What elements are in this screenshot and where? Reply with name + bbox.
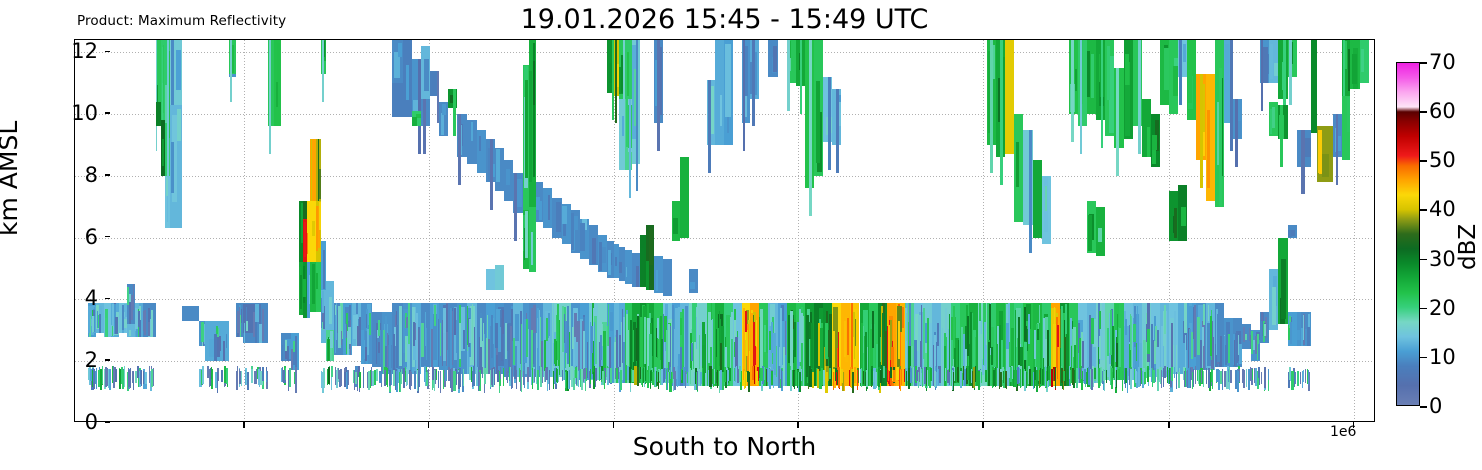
reflectivity-cell [1005, 40, 1014, 154]
reflectivity-cell [1100, 368, 1102, 386]
reflectivity-cell [1000, 372, 1002, 388]
reflectivity-cell [145, 372, 147, 384]
reflectivity-cell [285, 368, 286, 380]
reflectivity-cell [1361, 49, 1364, 72]
reflectivity-cell [972, 313, 973, 359]
reflectivity-cell [133, 284, 134, 310]
reflectivity-cell [282, 345, 284, 361]
reflectivity-cell [133, 372, 134, 390]
reflectivity-cell [1183, 44, 1185, 62]
reflectivity-cell [1225, 345, 1226, 365]
reflectivity-cell [1272, 107, 1275, 128]
reflectivity-cell [696, 317, 697, 349]
reflectivity-cell [1251, 331, 1253, 354]
reflectivity-cell [100, 369, 102, 389]
reflectivity-cell [1057, 325, 1059, 348]
reflectivity-cell [808, 367, 809, 386]
reflectivity-cell [691, 343, 693, 361]
reflectivity-cell [1042, 369, 1043, 385]
reflectivity-cell [331, 366, 333, 377]
y-axis-label: km AMSL [0, 121, 23, 236]
y-tick-label: 0 [85, 410, 98, 434]
reflectivity-cell [1033, 160, 1042, 237]
reflectivity-cell [135, 308, 137, 330]
reflectivity-cell [973, 367, 975, 388]
reflectivity-cell [479, 136, 481, 150]
reflectivity-cell [947, 370, 949, 383]
reflectivity-cell [756, 320, 758, 348]
reflectivity-cell [752, 40, 755, 126]
colorbar-tick [1420, 357, 1427, 359]
reflectivity-cell [254, 371, 255, 384]
reflectivity-cell [1088, 215, 1091, 251]
reflectivity-cell [207, 366, 209, 378]
reflectivity-cell [632, 370, 634, 383]
reflectivity-cell [1157, 330, 1159, 347]
reflectivity-cell [177, 109, 181, 141]
reflectivity-cell [1181, 207, 1186, 225]
reflectivity-cell [515, 314, 519, 341]
reflectivity-cell [1133, 324, 1136, 342]
reflectivity-cell [622, 116, 625, 136]
reflectivity-cell [121, 367, 123, 384]
y-tick-label: 4 [85, 286, 98, 310]
reflectivity-cell [600, 335, 602, 361]
reflectivity-cell [324, 371, 325, 385]
reflectivity-cell [708, 323, 710, 363]
y-tick-label: 6 [85, 225, 98, 249]
reflectivity-cell [873, 371, 874, 382]
reflectivity-cell [357, 370, 358, 391]
reflectivity-cell [1109, 367, 1110, 381]
reflectivity-cell [245, 370, 246, 385]
reflectivity-cell [1291, 230, 1294, 236]
reflectivity-cell [863, 371, 865, 384]
reflectivity-cell [773, 369, 774, 388]
reflectivity-cell [1003, 371, 1004, 383]
reflectivity-cell [906, 313, 908, 341]
reflectivity-cell [509, 367, 511, 380]
reflectivity-cell [458, 372, 459, 389]
reflectivity-cell [209, 369, 210, 388]
reflectivity-cell [322, 40, 324, 102]
reflectivity-cell [1281, 259, 1286, 319]
reflectivity-cell [1228, 334, 1229, 363]
reflectivity-cell [649, 228, 653, 265]
reflectivity-cell [438, 371, 439, 387]
reflectivity-cell [828, 330, 830, 357]
reflectivity-cell [781, 369, 783, 388]
reflectivity-cell [319, 202, 321, 230]
reflectivity-cell [1224, 336, 1225, 368]
reflectivity-cell [863, 326, 864, 353]
reflectivity-cell [240, 315, 242, 337]
colorbar-tick-label: 20 [1429, 296, 1456, 320]
colorbar-tick [1420, 111, 1427, 113]
reflectivity-cell [607, 368, 609, 385]
reflectivity-cell [124, 366, 126, 387]
reflectivity-cell [1157, 369, 1159, 380]
reflectivity-cell [1130, 369, 1131, 389]
reflectivity-cell [365, 331, 366, 347]
reflectivity-cell [359, 372, 361, 388]
reflectivity-cell [689, 269, 698, 294]
reflectivity-cell [472, 371, 474, 387]
x-tick [428, 422, 430, 428]
reflectivity-cell [1192, 372, 1193, 390]
reflectivity-cell [930, 368, 932, 381]
reflectivity-cell [573, 367, 574, 379]
reflectivity-cell [1047, 368, 1048, 381]
reflectivity-cell [656, 270, 659, 291]
reflectivity-cell [1272, 287, 1276, 325]
reflectivity-cell [247, 372, 249, 391]
reflectivity-cell [957, 367, 959, 382]
reflectivity-cell [720, 95, 722, 126]
reflectivity-cell [872, 311, 874, 348]
reflectivity-cell [646, 261, 649, 289]
reflectivity-cell [787, 40, 790, 111]
x-axis-offset-text: 1e6 [1330, 424, 1356, 440]
reflectivity-cell [658, 372, 659, 389]
reflectivity-cell [952, 370, 954, 390]
colorbar-tick-label: 0 [1429, 394, 1442, 418]
colorbar-tick-label: 60 [1429, 99, 1456, 123]
colorbar[interactable] [1396, 62, 1420, 406]
reflectivity-cell [884, 337, 886, 362]
reflectivity-cell [633, 330, 635, 362]
reflectivity-cell [224, 366, 225, 383]
reflectivity-cell [591, 326, 593, 353]
reflectivity-cell [122, 305, 124, 331]
reflectivity-cell [276, 82, 278, 107]
reflectivity-cell [736, 366, 737, 381]
reflectivity-cell [650, 371, 651, 388]
reflectivity-cell [1258, 367, 1260, 379]
reflectivity-cell [811, 323, 813, 369]
reflectivity-cell [230, 40, 232, 102]
reflectivity-cell [507, 324, 509, 352]
reflectivity-cell [486, 269, 495, 291]
reflectivity-cell [608, 250, 611, 276]
reflectivity-cell [1138, 40, 1141, 154]
reflectivity-cell [1219, 68, 1221, 206]
reflectivity-cell [323, 250, 325, 289]
reflectivity-cell [1091, 369, 1093, 390]
reflectivity-cell [376, 369, 378, 381]
reflectivity-cell [366, 314, 368, 328]
reflectivity-cell [627, 52, 630, 95]
reflectivity-cell [493, 318, 494, 344]
reflectivity-cell [266, 371, 267, 382]
reflectivity-cell [246, 321, 248, 330]
reflectivity-cell [1147, 329, 1149, 355]
reflectivity-cell [615, 40, 617, 123]
reflectivity-cell [754, 346, 756, 365]
reflectivity-cell [112, 304, 114, 326]
reflectivity-cell [1217, 314, 1220, 362]
reflectivity-cell [1347, 97, 1350, 132]
reflectivity-cell [673, 367, 675, 379]
reflectivity-cell [599, 242, 603, 271]
reflectivity-cell [525, 80, 528, 179]
colorbar-tick [1420, 62, 1427, 64]
reflectivity-cell [771, 371, 773, 384]
reflectivity-cell [1135, 371, 1137, 383]
reflectivity-cell [1047, 330, 1049, 371]
reflectivity-cell [1152, 368, 1153, 387]
reflectivity-cell [861, 368, 862, 387]
reflectivity-cell [1237, 371, 1238, 392]
reflectivity-cell [396, 325, 398, 369]
reflectivity-cell [478, 369, 480, 390]
reflectivity-cell [616, 370, 617, 383]
reflectivity-cell [356, 303, 359, 314]
reflectivity-cell [401, 369, 402, 384]
plot-area[interactable] [74, 39, 1375, 422]
reflectivity-cell [303, 279, 305, 297]
reflectivity-cell [119, 369, 121, 388]
reflectivity-cell [1174, 208, 1176, 238]
reflectivity-cell [151, 310, 153, 336]
reflectivity-cell [590, 369, 591, 384]
reflectivity-cell [571, 366, 572, 387]
reflectivity-cell [752, 366, 753, 380]
reflectivity-cell [291, 349, 293, 371]
reflectivity-cell [636, 40, 638, 191]
reflectivity-cell [1164, 366, 1166, 378]
reflectivity-cell [1024, 371, 1026, 391]
reflectivity-cell [657, 40, 660, 151]
colorbar-tick [1420, 259, 1427, 261]
colorbar-label: dBZ [1455, 224, 1481, 270]
reflectivity-cell [769, 369, 771, 388]
reflectivity-cell [413, 322, 415, 345]
reflectivity-cell [524, 366, 526, 387]
reflectivity-cell [988, 342, 990, 385]
reflectivity-cell [1211, 369, 1212, 382]
reflectivity-cell [1208, 368, 1210, 388]
reflectivity-cell [619, 262, 622, 273]
reflectivity-cell [532, 368, 534, 389]
reflectivity-cell [1087, 51, 1090, 97]
reflectivity-cell [1210, 316, 1212, 355]
reflectivity-cell [97, 311, 98, 328]
reflectivity-cell [1103, 369, 1104, 381]
reflectivity-cell [148, 308, 150, 322]
reflectivity-cell [979, 303, 981, 321]
reflectivity-cell [216, 326, 219, 334]
reflectivity-cell [871, 369, 872, 383]
reflectivity-cell [1264, 324, 1266, 336]
reflectivity-cell [418, 329, 420, 371]
reflectivity-cell [1303, 370, 1304, 381]
reflectivity-cell [1151, 324, 1153, 369]
reflectivity-cell [664, 368, 665, 382]
reflectivity-cell [539, 201, 541, 220]
reflectivity-cell [130, 368, 132, 389]
reflectivity-cell [1185, 368, 1186, 387]
x-tick [1168, 422, 1170, 428]
reflectivity-cell [1110, 310, 1112, 356]
reflectivity-cell [378, 342, 380, 353]
reflectivity-cell [1297, 371, 1299, 386]
reflectivity-cell [642, 369, 643, 388]
reflectivity-cell [201, 322, 204, 342]
reflectivity-cell [911, 368, 912, 380]
reflectivity-cell [493, 369, 495, 388]
reflectivity-cell [389, 340, 391, 373]
reflectivity-cell [1261, 372, 1262, 384]
reflectivity-cell [580, 223, 585, 252]
reflectivity-cell [745, 46, 749, 97]
reflectivity-cell [432, 367, 433, 380]
reflectivity-cell [322, 291, 324, 313]
reflectivity-cell [567, 306, 569, 364]
reflectivity-cell [1290, 322, 1292, 344]
reflectivity-cell [105, 318, 107, 336]
colorbar-tick [1420, 209, 1427, 211]
page-title: 19.01.2026 15:45 - 15:49 UTC [74, 4, 1375, 35]
reflectivity-cell [378, 320, 380, 335]
reflectivity-cell [878, 367, 880, 386]
reflectivity-cell [934, 371, 936, 387]
reflectivity-cell [744, 371, 745, 389]
reflectivity-cell [1163, 368, 1164, 387]
reflectivity-cell [202, 366, 204, 384]
reflectivity-cell [1336, 114, 1339, 185]
reflectivity-cell [1216, 369, 1218, 382]
reflectivity-cell [289, 368, 290, 388]
reflectivity-cell [450, 369, 451, 388]
reflectivity-cell [711, 303, 713, 321]
reflectivity-cell [980, 370, 981, 387]
reflectivity-cell [251, 369, 253, 383]
reflectivity-cell [1055, 367, 1056, 388]
reflectivity-cell [399, 306, 402, 366]
reflectivity-cell [1264, 367, 1266, 389]
reflectivity-cell [102, 366, 103, 384]
reflectivity-cell [672, 305, 674, 357]
reflectivity-cell [1138, 367, 1140, 387]
reflectivity-cell [751, 313, 753, 374]
reflectivity-cell [516, 370, 517, 390]
reflectivity-cell [890, 367, 892, 378]
reflectivity-cell [1125, 319, 1127, 335]
reflectivity-cell [1144, 372, 1146, 384]
reflectivity-cell [681, 369, 683, 380]
reflectivity-cell [312, 221, 315, 237]
x-tick [613, 422, 615, 428]
reflectivity-cell [680, 318, 682, 335]
reflectivity-cell [1081, 368, 1082, 379]
gridline-y [75, 299, 1374, 300]
x-tick [982, 422, 984, 428]
reflectivity-cell [575, 367, 576, 378]
reflectivity-cell [348, 370, 350, 385]
reflectivity-cell [670, 367, 672, 379]
reflectivity-cell [1043, 318, 1045, 358]
reflectivity-cell [217, 372, 218, 393]
reflectivity-cell [634, 366, 636, 384]
reflectivity-cell [399, 372, 400, 392]
reflectivity-cell [836, 89, 839, 172]
reflectivity-cell [162, 139, 163, 166]
reflectivity-cell [156, 40, 158, 151]
reflectivity-cell [615, 257, 616, 267]
reflectivity-cell [565, 372, 567, 388]
reflectivity-cell [514, 173, 517, 241]
reflectivity-cell [636, 266, 639, 288]
reflectivity-cell [440, 371, 441, 393]
reflectivity-cell [984, 322, 986, 370]
reflectivity-cell [719, 311, 720, 341]
reflectivity-cell [725, 44, 730, 116]
reflectivity-cell [1289, 367, 1290, 380]
reflectivity-cell [1048, 366, 1050, 380]
reflectivity-cell [519, 368, 520, 381]
reflectivity-cell [392, 83, 402, 117]
reflectivity-cell [993, 370, 995, 385]
reflectivity-cell [1130, 314, 1131, 351]
reflectivity-cell [655, 367, 656, 387]
reflectivity-cell [743, 40, 745, 151]
reflectivity-cell [604, 371, 605, 389]
reflectivity-cell [506, 169, 509, 185]
reflectivity-cell [1246, 369, 1247, 387]
reflectivity-cell [1203, 371, 1204, 387]
reflectivity-cell [1197, 317, 1200, 355]
colorbar-tick [1420, 406, 1427, 408]
reflectivity-cell [282, 367, 284, 382]
reflectivity-cell [1261, 312, 1263, 321]
reflectivity-cell [143, 371, 144, 384]
reflectivity-cell [938, 369, 939, 385]
reflectivity-cell [1020, 369, 1021, 387]
reflectivity-cell [1161, 326, 1163, 371]
reflectivity-cell [574, 313, 577, 337]
reflectivity-cell [975, 366, 976, 382]
reflectivity-cell [1270, 44, 1273, 79]
reflectivity-cell [1098, 228, 1102, 242]
reflectivity-cell [459, 323, 461, 360]
gridline-x [1354, 40, 1355, 421]
reflectivity-cell [828, 77, 831, 170]
reflectivity-cell [599, 367, 600, 381]
reflectivity-cell [1063, 371, 1065, 382]
reflectivity-cell [715, 40, 724, 145]
reflectivity-cell [602, 247, 607, 263]
reflectivity-cell [1071, 40, 1074, 142]
reflectivity-cell [1236, 331, 1238, 363]
reflectivity-cell [906, 371, 907, 386]
reflectivity-cell [1028, 314, 1030, 345]
reflectivity-cell [412, 117, 417, 127]
reflectivity-cell [1127, 371, 1128, 393]
reflectivity-cell [802, 367, 804, 386]
reflectivity-cell [340, 369, 342, 386]
colorbar-tick [1420, 308, 1427, 310]
reflectivity-cell [574, 216, 577, 230]
reflectivity-cell [441, 113, 444, 135]
reflectivity-cell [131, 295, 132, 320]
reflectivity-cell [1016, 142, 1019, 188]
reflectivity-cell [487, 315, 488, 363]
reflectivity-cell [1322, 154, 1329, 177]
reflectivity-cell [423, 99, 426, 155]
reflectivity-cell [640, 367, 641, 380]
reflectivity-cell [1006, 323, 1008, 350]
